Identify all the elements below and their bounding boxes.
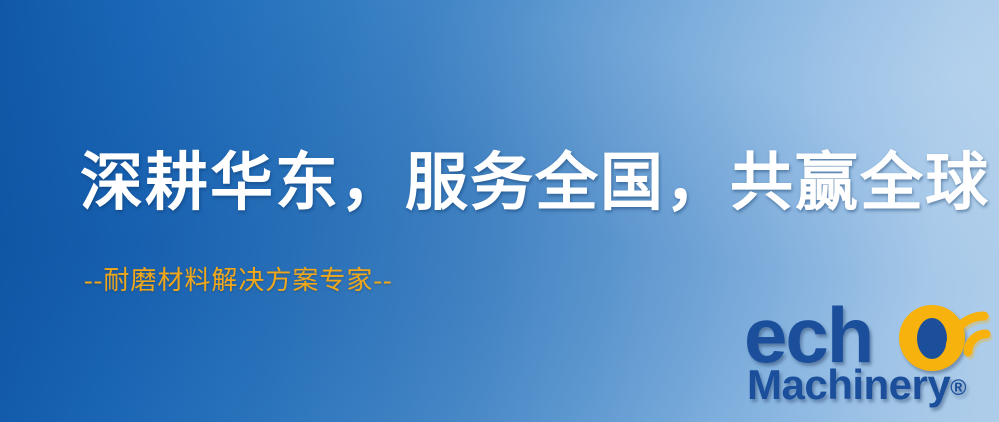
logo-wordmark-machinery: Machinery®	[747, 364, 966, 409]
company-logo[interactable]: ech Machinery®	[744, 296, 999, 422]
banner-subtitle: --耐磨材料解决方案专家--	[84, 268, 393, 294]
logo-machinery-text: Machinery	[747, 361, 950, 408]
registered-trademark-icon: ®	[950, 375, 966, 400]
promo-banner: 深耕华东，服务全国，共赢全球 --耐磨材料解决方案专家-- ech Machin…	[0, 0, 999, 422]
banner-headline: 深耕华东，服务全国，共赢全球	[80, 152, 990, 215]
echo-wave-icon	[940, 288, 999, 364]
